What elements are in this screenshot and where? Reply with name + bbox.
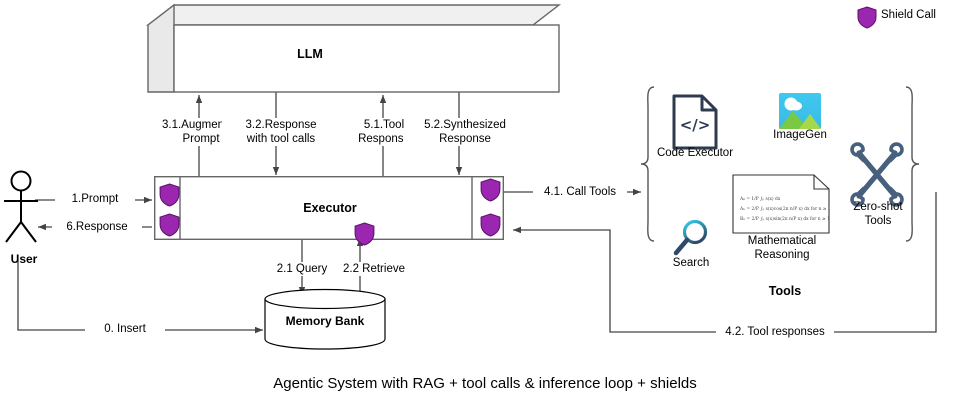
llm-node[interactable] [148,3,560,95]
shield-icon[interactable] [159,213,180,237]
legend-shield-call-label: Shield Call [881,8,970,22]
shield-icon[interactable] [480,213,501,237]
tool-label-code-executor: Code Executor [645,146,745,160]
edge-label-call-tools: 4.1. Call Tools [533,185,627,199]
shield-icon[interactable] [159,183,180,207]
tool-label-imagegen: ImageGen [760,128,840,142]
edge-label-insert: 0. Insert [85,322,165,336]
magnifier-icon[interactable] [672,218,712,258]
shield-icon [857,6,877,29]
edge-label-response: 6.Response [52,220,142,234]
llm-label: LLM [280,47,340,61]
edge-label-response-with-tool-calls: 3.2.Response with tool calls [222,118,340,146]
executor-label: Executor [275,201,385,215]
formula-document-icon[interactable]: A₀ = 1/P ∫ₚ s(x) dx Aₙ = 2/P ∫ₚ s(x)cos(… [732,174,830,234]
edge-label-tool-responses: 4.2. Tool responses [716,325,834,339]
edge-label-synthesized-response: 5.2.Synthesized Response [404,118,526,146]
tools-group-label: Tools [730,284,840,298]
crossed-wrenches-icon[interactable] [849,144,905,206]
tool-label-zero-shot-tools: Zero-shot Tools [832,200,924,228]
edge-label-query: 2.1 Query [266,262,338,276]
edge-label-retrieve: 2.2 Retrieve [330,262,418,276]
user-label: User [0,252,48,266]
code-document-icon[interactable]: </> [672,94,718,150]
svg-text:Bₙ = 2/P ∫ₚ s(x)sin(2π n/P x): Bₙ = 2/P ∫ₚ s(x)sin(2π n/P x) dx for n ≥… [740,216,830,222]
edge-label-prompt: 1.Prompt [55,192,135,206]
diagram-caption: Agentic System with RAG + tool calls & i… [0,375,970,392]
shield-icon[interactable] [480,178,501,202]
svg-text:</>: </> [680,116,711,134]
tool-label-search: Search [653,256,729,270]
tool-label-mathematical-reasoning: Mathematical Reasoning [727,234,837,262]
svg-text:Aₙ = 2/P ∫ₚ s(x)cos(2π n/P x): Aₙ = 2/P ∫ₚ s(x)cos(2π n/P x) dx for n ≥… [739,206,831,212]
edge-insert [18,260,263,330]
user-node[interactable] [2,170,50,245]
shield-icon[interactable] [354,222,375,246]
image-picture-icon[interactable] [779,93,821,129]
memory-bank-label: Memory Bank [265,314,385,328]
svg-text:A₀ = 1/P ∫ₚ s(x) dx: A₀ = 1/P ∫ₚ s(x) dx [739,196,781,202]
